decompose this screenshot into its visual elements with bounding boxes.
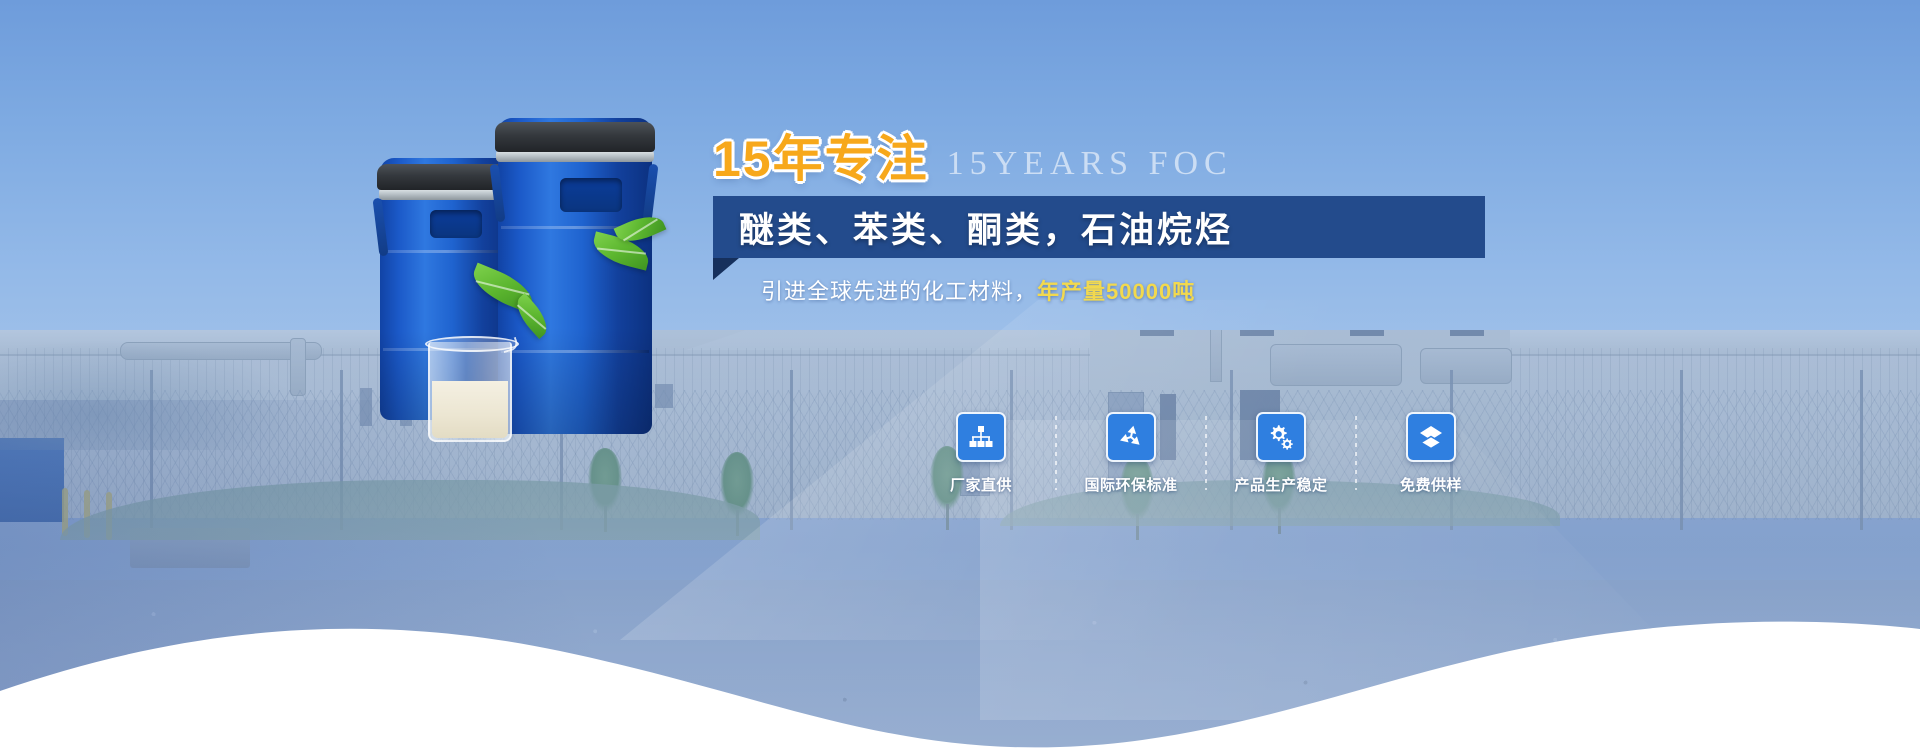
feature-label: 产品生产稳定 [1234,474,1327,495]
feature-label: 免费供样 [1400,474,1462,495]
feature-label: 国际环保标准 [1084,474,1177,495]
feature-divider [1036,416,1076,490]
building-window [1140,330,1174,336]
fence-post [1680,370,1683,530]
distant-treeline [0,330,330,450]
hero-banner: 15年专注 15YEARS FOC 醚类、苯类、酮类，石油烷烃 引进全球先进的化… [0,0,1920,751]
feature-item-eco-standard[interactable]: 国际环保标准 [1076,412,1186,495]
leaf-vein [597,248,646,255]
feature-divider [1186,416,1226,490]
subtitle-normal-text: 引进全球先进的化工材料， [761,279,1037,304]
fence-post [790,370,793,530]
gravel-yard [0,580,1920,751]
headline-chinese: 15年专注 [713,134,929,184]
drum-handle [560,178,622,212]
building-window [1240,330,1274,336]
building-window [1450,330,1484,336]
product-group [380,110,720,450]
headline-block: 15年专注 15YEARS FOC 醚类、苯类、酮类，石油烷烃 引进全球先进的化… [713,126,1513,306]
drum-lid [495,122,655,152]
roof-pipe [1210,330,1222,382]
drum-shadow [498,327,652,434]
tree-trunk [946,504,949,530]
feature-item-free-sample[interactable]: 免费供样 [1376,412,1486,495]
roof-duct [1270,344,1402,386]
layers-box-icon [1406,412,1456,462]
gears-icon [1256,412,1306,462]
lab-beaker-with-white-liquid [428,342,512,442]
feature-item-factory-direct[interactable]: 厂家直供 [926,412,1036,495]
blue-container [0,438,64,522]
fence-post [1860,370,1863,530]
subtitle-highlight-text: 年产量50000吨 [1037,279,1195,304]
ribbon-wrap: 醚类、苯类、酮类，石油烷烃 [713,196,1485,258]
drum-handle [430,210,482,238]
drum-rib [383,250,510,253]
leaf-vein [623,218,658,241]
feature-list: 厂家直供 国际环保标准 [926,412,1526,500]
product-ribbon-text: 醚类、苯类、酮类，石油烷烃 [739,202,1233,253]
feature-item-stable-production[interactable]: 产品生产稳定 [1226,412,1336,495]
blue-chemical-drum-front [498,118,652,434]
feature-label: 厂家直供 [950,474,1012,495]
recycle-icon [1106,412,1156,462]
headline-row: 15年专注 15YEARS FOC [713,126,1513,184]
chemical-factory-photo [0,330,1920,751]
product-ribbon: 醚类、苯类、酮类，石油烷烃 [713,196,1485,258]
feature-divider [1336,416,1376,490]
org-chart-icon [956,412,1006,462]
headline-english: 15YEARS FOC [947,147,1233,181]
building-window [1350,330,1384,336]
drum-rib [501,350,649,353]
subtitle-line: 引进全球先进的化工材料，年产量50000吨 [761,274,1513,306]
roof-duct [1420,348,1512,384]
ribbon-fold-tail [713,258,739,280]
beaker-liquid [432,381,508,438]
